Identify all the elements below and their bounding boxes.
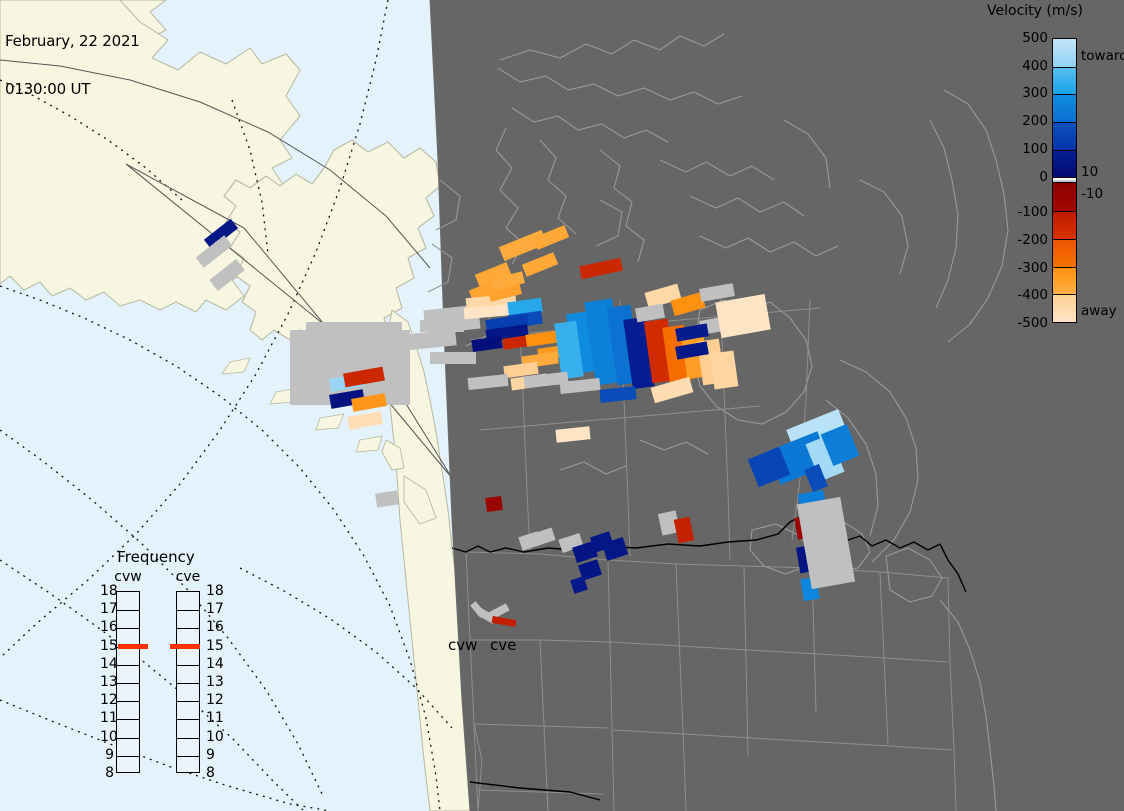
colorbar-band-toward-0 [1053, 39, 1076, 67]
velocity-cell [467, 374, 508, 390]
frequency-marker-cvw [118, 644, 148, 649]
frequency-legend: Frequency cvw18171615141312111098cve1817… [86, 548, 256, 780]
frequency-column-label-cvw: cvw [114, 569, 141, 585]
velocity-cell [375, 491, 399, 508]
velocity-tick--400: -400 [990, 287, 1048, 303]
velocity-cell [534, 528, 555, 546]
frequency-gridline [117, 719, 139, 720]
velocity-cell [797, 497, 855, 589]
frequency-value-cvw-9: 9 [100, 747, 114, 763]
colorbar-band-toward-3 [1053, 122, 1076, 150]
radar-map-figure: February, 22 2021 0130:00 UT Velocity (m… [0, 0, 1124, 811]
velocity-cell [485, 496, 503, 512]
frequency-gridline [177, 683, 199, 684]
colorbar-band-toward-2 [1053, 94, 1076, 122]
frequency-gridline [177, 628, 199, 629]
velocity-legend: Velocity (m/s) 5004003002001000-100-200-… [960, 0, 1124, 340]
frequency-gridline [117, 665, 139, 666]
frequency-column-label-cve: cve [176, 569, 201, 585]
velocity-cell [699, 283, 735, 302]
frequency-value-cve-13: 13 [206, 674, 224, 690]
frequency-value-cvw-12: 12 [100, 692, 114, 708]
frequency-gridline [177, 665, 199, 666]
frequency-gridline [177, 738, 199, 739]
frequency-value-cve-12: 12 [206, 692, 224, 708]
velocity-cell [674, 517, 695, 544]
velocity-legend-title: Velocity (m/s) [960, 3, 1110, 19]
frequency-gridline [177, 701, 199, 702]
velocity-cell [522, 252, 558, 277]
velocity-cell [715, 294, 770, 338]
velocity-cell [347, 411, 383, 430]
frequency-gridline [177, 756, 199, 757]
velocity-tick--300: -300 [990, 260, 1048, 276]
velocity-tick--500: -500 [990, 315, 1048, 331]
velocity-cell [430, 352, 476, 364]
frequency-value-cve-11: 11 [206, 710, 224, 726]
frequency-bar-cve [176, 591, 200, 773]
frequency-value-cve-14: 14 [206, 656, 224, 672]
velocity-cell [306, 322, 402, 342]
velocity-cell [533, 225, 569, 250]
velocity-cell [555, 426, 590, 442]
frequency-legend-title: Frequency [86, 548, 226, 566]
frequency-value-cvw-8: 8 [100, 765, 114, 781]
frequency-value-cve-17: 17 [206, 601, 224, 617]
velocity-cell [209, 259, 244, 291]
frequency-value-cve-18: 18 [206, 583, 224, 599]
velocity-tick--200: -200 [990, 232, 1048, 248]
frequency-value-cvw-17: 17 [100, 601, 114, 617]
velocity-cell [710, 351, 739, 390]
velocity-tick-400: 400 [990, 58, 1048, 74]
frequency-gridline [177, 610, 199, 611]
velocity-tick-500: 500 [990, 30, 1048, 46]
velocity-tick-300: 300 [990, 85, 1048, 101]
away-label: away [1081, 303, 1117, 319]
velocity-cell [599, 386, 636, 403]
frequency-marker-cve [170, 644, 200, 649]
velocity-colorbar [1052, 38, 1077, 323]
timestamp-date: February, 22 2021 [5, 33, 140, 49]
frequency-gridline [117, 610, 139, 611]
frequency-value-cvw-10: 10 [100, 729, 114, 745]
frequency-value-cvw-14: 14 [100, 656, 114, 672]
frequency-gridline [177, 719, 199, 720]
colorbar-band-away-3 [1053, 267, 1076, 295]
velocity-tick--100: -100 [990, 204, 1048, 220]
frequency-bar-cvw [116, 591, 140, 773]
frequency-gridline [117, 756, 139, 757]
frequency-gridline [117, 738, 139, 739]
velocity-tick-100: 100 [990, 141, 1048, 157]
colorbar-band-away-0 [1053, 183, 1076, 211]
velocity-cell [403, 329, 456, 350]
frequency-value-cve-15: 15 [206, 638, 224, 654]
frequency-value-cvw-13: 13 [100, 674, 114, 690]
toward-label: toward [1081, 48, 1124, 64]
frequency-value-cvw-15: 15 [100, 638, 114, 654]
colorbar-band-away-2 [1053, 239, 1076, 267]
frequency-gridline [117, 628, 139, 629]
frequency-value-cve-10: 10 [206, 729, 224, 745]
frequency-value-cve-8: 8 [206, 765, 224, 781]
velocity-cell [492, 616, 517, 627]
frequency-value-cve-9: 9 [206, 747, 224, 763]
velocity-cell [420, 320, 464, 332]
colorbar-band-away-1 [1053, 211, 1076, 239]
colorbar-band-away-4 [1053, 294, 1076, 322]
colorbar-band-toward-4 [1053, 150, 1076, 178]
frequency-value-cvw-18: 18 [100, 583, 114, 599]
frequency-gridline [117, 701, 139, 702]
velocity-cell [579, 258, 623, 279]
velocity-cell [471, 336, 502, 352]
timestamp: February, 22 2021 0130:00 UT [5, 1, 140, 129]
station-label-cve: cve [490, 636, 516, 654]
frequency-value-cve-16: 16 [206, 619, 224, 635]
velocity-tick-0: 0 [990, 169, 1048, 185]
timestamp-time: 0130:00 UT [5, 81, 140, 97]
velocity-cell [635, 304, 665, 323]
frequency-gridline [117, 683, 139, 684]
velocity-tick-200: 200 [990, 113, 1048, 129]
colorbar-band-toward-1 [1053, 67, 1076, 95]
frequency-value-cvw-16: 16 [100, 619, 114, 635]
velocity-plus-ten-label: 10 [1081, 164, 1098, 180]
station-label-cvw: cvw [448, 636, 477, 654]
frequency-value-cvw-11: 11 [100, 710, 114, 726]
velocity-minus-ten-label: -10 [1081, 186, 1103, 202]
